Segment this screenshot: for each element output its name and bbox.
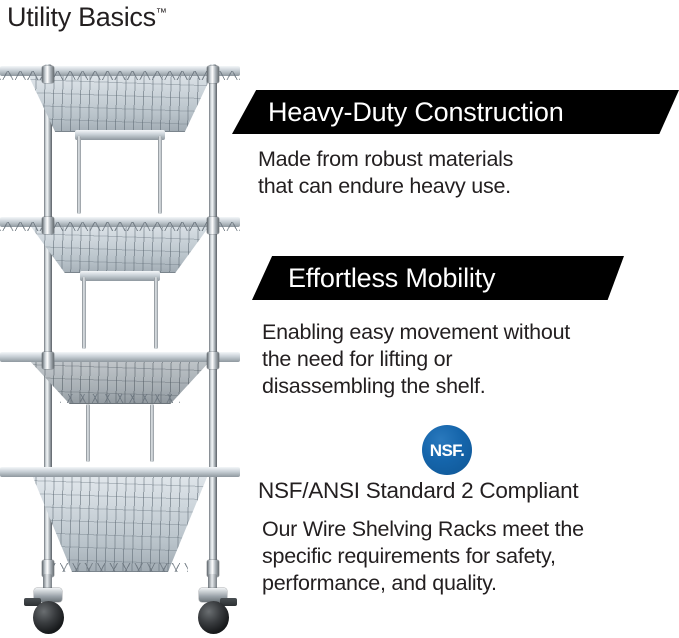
shelf-support-brace-left [82, 277, 86, 349]
rack-shelf-1-front-rail [75, 130, 165, 142]
body-line: specific requirements for safety, [262, 543, 662, 570]
feature-body-effortless-mobility: Enabling easy movement without the need … [262, 319, 662, 400]
body-line: that can endure heavy use. [258, 173, 658, 200]
body-line: Made from robust materials [258, 146, 658, 173]
body-line: Our Wire Shelving Racks meet the [262, 516, 662, 543]
caster-wheel-right [193, 574, 233, 636]
brand-name: Utility Basics [7, 2, 156, 32]
post-collar [42, 352, 54, 369]
shelf-support-brace-right [158, 136, 162, 214]
shelf-rail-back [0, 352, 240, 362]
post-collar [207, 217, 219, 234]
feature-banner-label: Effortless Mobility [288, 263, 495, 294]
nsf-seal-icon: NSF. [422, 425, 472, 475]
nsf-badge-text: NSF. [430, 442, 464, 459]
shelf-zigzag-brace [0, 222, 240, 231]
feature-banner-label: Heavy-Duty Construction [268, 97, 564, 128]
post-collar [42, 66, 54, 83]
shelf-support-brace-left [77, 136, 81, 214]
shelf-rail-back [0, 467, 240, 477]
feature-banner-effortless-mobility: Effortless Mobility [252, 256, 624, 300]
certification-heading: NSF/ANSI Standard 2 Compliant [258, 477, 658, 504]
shelf-deck [0, 467, 240, 572]
caster-tire [33, 601, 64, 634]
shelf-zigzag-brace [52, 563, 188, 572]
rack-shelf-3 [0, 352, 240, 404]
feature-body-heavy-duty-construction: Made from robust materials that can endu… [258, 146, 658, 200]
caster-wheel-left [28, 574, 68, 636]
rack-shelf-1 [0, 66, 240, 132]
feature-banner-heavy-duty-construction: Heavy-Duty Construction [232, 90, 679, 134]
shelf-support-brace-right [150, 404, 154, 462]
shelf-zigzag-brace [0, 71, 240, 80]
post-collar [207, 66, 219, 83]
body-line: the need for lifting or [262, 346, 662, 373]
shelf-support-brace-right [154, 277, 158, 349]
rack-shelf-2 [0, 217, 240, 273]
body-line: disassembling the shelf. [262, 373, 662, 400]
shelf-rail-front [75, 130, 165, 140]
shelf-zigzag-brace [60, 394, 180, 403]
body-line: Enabling easy movement without [262, 319, 662, 346]
rack-shelf-4 [0, 467, 240, 572]
body-line: performance, and quality. [262, 570, 662, 597]
rack-shelf-2-front-rail [80, 271, 160, 283]
certification-heading-text: NSF/ANSI Standard 2 Compliant [258, 477, 658, 504]
post-collar [42, 217, 54, 234]
post-collar [207, 352, 219, 369]
caster-tire [198, 601, 229, 634]
shelf-support-brace-left [86, 404, 90, 462]
trademark-symbol: ™ [156, 7, 167, 19]
brand-title: Utility Basics™ [7, 2, 167, 33]
shelf-rail-front [80, 271, 160, 281]
certification-body: Our Wire Shelving Racks meet the specifi… [262, 516, 662, 597]
product-image-wire-shelving-rack [0, 52, 240, 638]
